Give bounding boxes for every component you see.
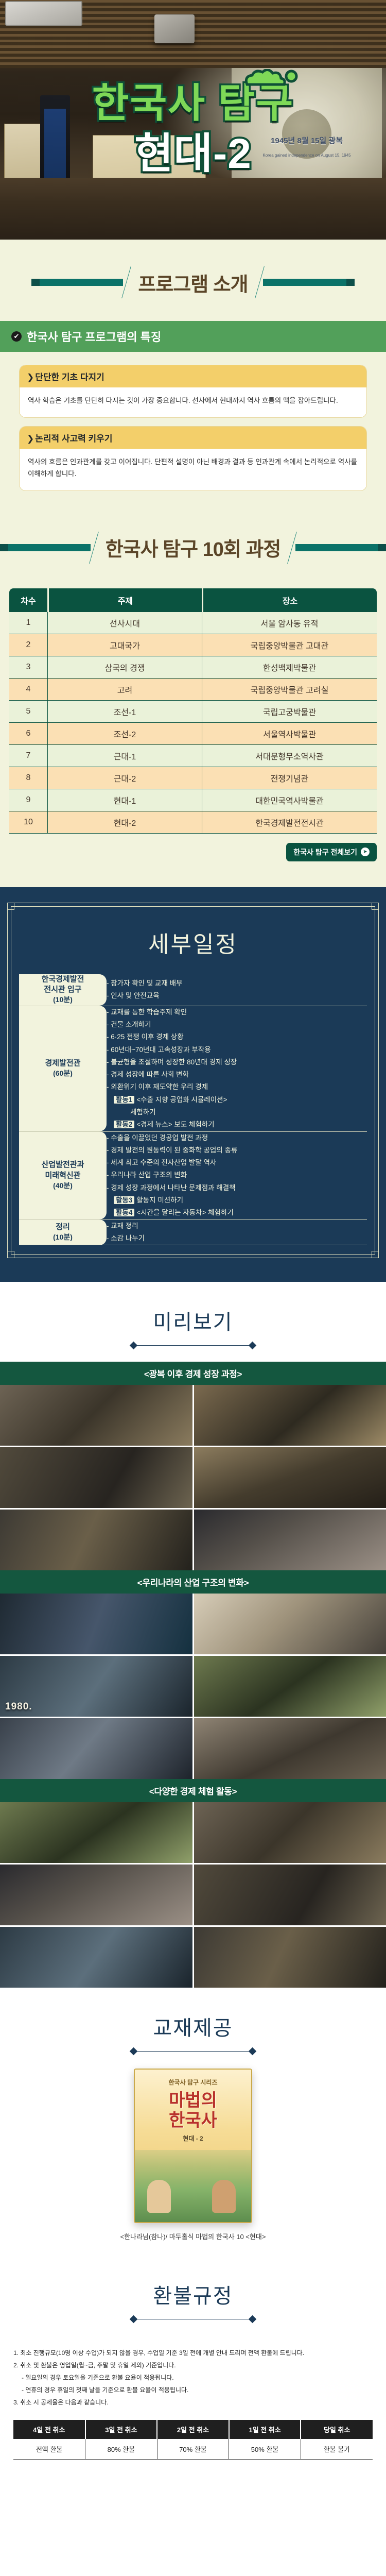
preview-photo (194, 1510, 386, 1570)
schedule-place: 정리(10분) (19, 1219, 107, 1245)
schedule-place: 경제발전관(60분) (19, 1006, 107, 1131)
curriculum-table-body: 1선사시대서울 암사동 유적2고대국가국립중앙박물관 고대관3삼국의 경쟁한성백… (9, 612, 377, 834)
session-cell: 4 (9, 679, 47, 701)
refund-column-header: 3일 전 취소 (85, 2420, 157, 2439)
topic-cell: 고대국가 (47, 634, 202, 656)
preview-photo (0, 1510, 192, 1570)
curriculum-title: 한국사 탐구 10회 과정 (97, 533, 289, 562)
schedule-row: 정리(10분)- 교재 정리- 소감 나누기 (19, 1219, 367, 1245)
table-header-row: 차수 주제 장소 (9, 588, 377, 612)
table-row: 1선사시대서울 암사동 유적 (9, 612, 377, 634)
diamond-divider (0, 2316, 386, 2322)
session-cell: 8 (9, 767, 47, 789)
divider-line (136, 1345, 250, 1346)
heading-rule-left (31, 279, 123, 286)
diamond-left-icon (130, 2047, 138, 2056)
preview-groups: <광복 이후 경제 성장 과정><우리나라의 산업 구조의 변화>1980.<다… (0, 1362, 386, 1988)
refund-header-row: 4일 전 취소3일 전 취소2일 전 취소1일 전 취소당일 취소 (13, 2420, 373, 2439)
place-cell: 한국경제발전전시관 (202, 811, 377, 834)
activity-label: <수출 지향 공업화 시뮬레이션> (136, 1096, 227, 1104)
place-cell: 서울 암사동 유적 (202, 612, 377, 634)
refund-policy-line: 2. 취소 및 환불은 영업일(월~금, 주말 및 휴일 제외) 기준입니다. (13, 2359, 373, 2371)
col-topic: 주제 (47, 588, 202, 612)
diamond-right-icon (249, 2047, 257, 2056)
preview-photo (0, 1927, 192, 1988)
refund-rate-table: 4일 전 취소3일 전 취소2일 전 취소1일 전 취소당일 취소 전액 환불8… (13, 2420, 373, 2460)
divider-line (136, 2051, 250, 2052)
view-all-button[interactable]: 한국사 탐구 전체보기 ➤ (286, 843, 377, 861)
schedule-row: 산업발전관과미래혁신관(40분)- 수출을 이끌었던 경공업 발전 과정- 경제… (19, 1131, 367, 1219)
cover-illustration (135, 2150, 251, 2222)
feature-card-header: ❯단단한 기초 다지기 (20, 365, 366, 387)
textbook-caption: <한나라님(참나)/ 마두홀식 마법의 한국사 10 <현대> (0, 2231, 386, 2241)
preview-photo (0, 1802, 192, 1863)
refund-policy-line: - 연휴의 경우 휴일의 첫째 날을 기준으로 환불 요율이 적용됩니다. (13, 2384, 373, 2396)
schedule-item: - 경제 성장 과정에서 나타난 문제점과 해결책 (107, 1182, 367, 1194)
feature-body: 역사 학습은 기초를 단단히 다지는 것이 가장 중요합니다. 선사에서 현대까… (20, 387, 366, 417)
diamond-divider (0, 1343, 386, 1348)
preview-photo (194, 1594, 386, 1654)
topic-cell: 고려 (47, 679, 202, 701)
schedule-items: - 참가자 확인 및 교재 배부- 인사 및 안전교육 (107, 974, 367, 1006)
hero-title-line1: 한국사 탐구 (0, 82, 386, 125)
diamond-right-icon (249, 1342, 257, 1350)
hero-title-line2: 현대-2 (0, 132, 386, 176)
preview-photo (194, 1802, 386, 1863)
place-cell: 대한민국역사박물관 (202, 789, 377, 811)
view-all-wrap: 한국사 탐구 전체보기 ➤ (0, 834, 386, 885)
hero-title-block: 한국사 탐구 현대-2 (0, 82, 386, 176)
preview-caption: <다양한 경제 체험 활동> (0, 1779, 386, 1802)
schedule-item: - 소감 나누기 (107, 1232, 367, 1245)
session-cell: 7 (9, 745, 47, 767)
refund-policy-line: 3. 취소 시 공제율은 다음과 같습니다. (13, 2396, 373, 2409)
refund-rate-cell: 80% 환불 (85, 2439, 157, 2460)
schedule-item: - 건물 소개하기 (107, 1019, 367, 1031)
schedule-duration: (60분) (53, 1069, 73, 1077)
preview-photo (0, 1865, 192, 1925)
intro-badge: ✔ 한국사 탐구 프로그램의 특징 (0, 321, 386, 352)
table-row: 8근대-2전쟁기념관 (9, 767, 377, 789)
schedule-item: - 외환위기 이후 재도약한 우리 경제 (107, 1081, 367, 1093)
heading-rule-right (263, 279, 355, 286)
table-row: 7근대-1서대문형무소역사관 (9, 745, 377, 767)
schedule-activity: 활동3활동지 미션하기 (107, 1194, 367, 1207)
preview-section: 미리보기 <광복 이후 경제 성장 과정><우리나라의 산업 구조의 변화>19… (0, 1282, 386, 1988)
preview-photo (194, 1656, 386, 1717)
schedule-items: - 교재를 통한 학습주제 확인- 건물 소개하기- 6·25 전쟁 이후 경제… (107, 1006, 367, 1131)
page-title: 프로그램 소개 (130, 268, 256, 297)
cover-title: 마법의한국사 (135, 2091, 251, 2131)
gallery-floor (0, 178, 386, 240)
diamond-left-icon (130, 1342, 138, 1350)
topic-cell: 현대-2 (47, 811, 202, 834)
feature-card: ❯단단한 기초 다지기 역사 학습은 기초를 단단히 다지는 것이 가장 중요합… (20, 365, 366, 417)
place-cell: 한성백제박물관 (202, 656, 377, 679)
preview-photo (194, 1927, 386, 1988)
program-landing-page: 1945년 8월 15일 광복 Korea gained independenc… (0, 0, 386, 2480)
table-row: 5조선-1국립고궁박물관 (9, 701, 377, 723)
schedule-row: 한국경제발전전시관 입구(10분)- 참가자 확인 및 교재 배부- 인사 및 … (19, 974, 367, 1006)
activity-label: 활동지 미션하기 (136, 1196, 183, 1204)
preview-photo: 1980. (0, 1656, 192, 1717)
schedule-activity: 활동4<시간을 달리는 자동차> 체험하기 (107, 1207, 367, 1219)
schedule-item: - 우리나라 산업 구조의 변화 (107, 1169, 367, 1181)
diamond-left-icon (130, 2315, 138, 2324)
feature-list: ❯단단한 기초 다지기 역사 학습은 기초를 단단히 다지는 것이 가장 중요합… (0, 352, 386, 505)
curriculum-table: 차수 주제 장소 1선사시대서울 암사동 유적2고대국가국립중앙박물관 고대관3… (9, 588, 377, 834)
place-cell: 국립중앙박물관 고대관 (202, 634, 377, 656)
refund-column-header: 1일 전 취소 (229, 2420, 301, 2439)
schedule-title: 세부일정 (13, 908, 373, 974)
col-place: 장소 (202, 588, 377, 612)
refund-section: 환불규정 1. 최소 진행규모(10명 이상 수업)가 되지 않을 경우, 수업… (0, 2259, 386, 2480)
table-row: 2고대국가국립중앙박물관 고대관 (9, 634, 377, 656)
schedule-item: - 불균형을 조절하며 성장한 80년대 경제 성장 (107, 1056, 367, 1069)
textbook-section: 교재제공 한국사 탐구 시리즈 마법의한국사 현대 - 2 <한나라님(참나)/… (0, 1988, 386, 2259)
section-heading-curriculum: 한국사 탐구 10회 과정 (0, 505, 386, 586)
photo-year-label: 1980. (5, 1701, 32, 1713)
check-icon: ✔ (11, 331, 22, 342)
schedule-items: - 교재 정리- 소감 나누기 (107, 1219, 367, 1245)
frame-corner-tr (372, 903, 379, 910)
activity-badge: 활동2 (114, 1121, 134, 1128)
schedule-item: - 세계 최고 수준의 전자산업 발달 역사 (107, 1157, 367, 1169)
place-cell: 국립중앙박물관 고려실 (202, 679, 377, 701)
activity-badge: 활동3 (114, 1196, 134, 1204)
textbook-title: 교재제공 (0, 2011, 386, 2041)
preview-photo (194, 1385, 386, 1446)
place-cell: 서울역사박물관 (202, 723, 377, 745)
refund-rate-cell: 환불 불가 (301, 2439, 373, 2460)
diamond-divider (0, 2048, 386, 2054)
preview-caption: <광복 이후 경제 성장 과정> (0, 1362, 386, 1385)
feature-title: 논리적 사고력 키우기 (35, 434, 112, 444)
schedule-item: - 경제 성장에 따른 사회 변화 (107, 1069, 367, 1081)
session-cell: 2 (9, 634, 47, 656)
schedule-activity: 활동2<경제 뉴스> 보도 체험하기 (107, 1118, 367, 1131)
schedule-item: - 수출을 이끌었던 경공업 발전 과정 (107, 1132, 367, 1144)
ceiling-projector (154, 14, 195, 43)
frame-corner-br (372, 1251, 379, 1258)
refund-column-header: 당일 취소 (301, 2420, 373, 2439)
activity-label: <경제 뉴스> 보도 체험하기 (136, 1121, 214, 1128)
schedule-frame: 세부일정 한국경제발전전시관 입구(10분)- 참가자 확인 및 교재 배부- … (7, 903, 379, 1258)
schedule-item: - 6·25 전쟁 이후 경제 상황 (107, 1031, 367, 1043)
schedule-item: - 교재 정리 (107, 1220, 367, 1232)
schedule-items: - 수출을 이끌었던 경공업 발전 과정- 경제 발전의 원동력이 된 중화학 … (107, 1131, 367, 1219)
refund-rate-cell: 70% 환불 (157, 2439, 229, 2460)
topic-cell: 선사시대 (47, 612, 202, 634)
preview-photo (194, 1447, 386, 1508)
schedule-item: - 인사 및 안전교육 (107, 990, 367, 1002)
hero-banner: 1945년 8월 15일 광복 Korea gained independenc… (0, 0, 386, 240)
schedule-section: 세부일정 한국경제발전전시관 입구(10분)- 참가자 확인 및 교재 배부- … (0, 887, 386, 1282)
schedule-duration: (40분) (53, 1181, 73, 1190)
feature-title: 단단한 기초 다지기 (35, 372, 104, 382)
intro-badge-label: 한국사 탐구 프로그램의 특징 (27, 328, 161, 345)
feature-card: ❯논리적 사고력 키우기 역사의 흐름은 인과관계를 갖고 이어집니다. 단편적… (20, 427, 366, 490)
textbook-cover-image: 한국사 탐구 시리즈 마법의한국사 현대 - 2 (134, 2069, 252, 2223)
topic-cell: 삼국의 경쟁 (47, 656, 202, 679)
preview-photo (0, 1385, 192, 1446)
topic-cell: 근대-1 (47, 745, 202, 767)
activity-badge: 활동1 (114, 1096, 134, 1104)
col-session: 차수 (9, 588, 47, 612)
activity-label: <시간을 달리는 자동차> 체험하기 (136, 1209, 233, 1216)
preview-photo (194, 1718, 386, 1779)
session-cell: 1 (9, 612, 47, 634)
cover-subtitle: 현대 - 2 (135, 2134, 251, 2143)
topic-cell: 조선-2 (47, 723, 202, 745)
activity-sublabel: 체험하기 (107, 1106, 367, 1118)
schedule-table-body: 한국경제발전전시관 입구(10분)- 참가자 확인 및 교재 배부- 인사 및 … (19, 974, 367, 1245)
schedule-place: 한국경제발전전시관 입구(10분) (19, 974, 107, 1006)
topic-cell: 조선-1 (47, 701, 202, 723)
cloud-ornament-icon (242, 69, 304, 92)
schedule-item: - 참가자 확인 및 교재 배부 (107, 977, 367, 990)
divider-line (136, 2319, 250, 2319)
preview-title: 미리보기 (0, 1306, 386, 1335)
chevron-right-icon: ❯ (27, 372, 34, 382)
preview-photo (0, 1718, 192, 1779)
preview-photo (194, 1865, 386, 1925)
feature-card-header: ❯논리적 사고력 키우기 (20, 427, 366, 449)
preview-caption: <우리나라의 산업 구조의 변화> (0, 1570, 386, 1594)
diamond-right-icon (249, 2315, 257, 2324)
section-heading-intro: 프로그램 소개 (0, 240, 386, 321)
schedule-item: - 경제 발전의 원동력이 된 중화학 공업의 종류 (107, 1144, 367, 1157)
table-row: 4고려국립중앙박물관 고려실 (9, 679, 377, 701)
refund-value-row: 전액 환불80% 환불70% 환불50% 환불환불 불가 (13, 2439, 373, 2460)
view-all-label: 한국사 탐구 전체보기 (293, 847, 357, 857)
preview-image-grid: 1980. (0, 1594, 386, 1779)
session-cell: 10 (9, 811, 47, 834)
topic-cell: 근대-2 (47, 767, 202, 789)
ceiling-ac-unit (5, 1, 82, 26)
cover-series-label: 한국사 탐구 시리즈 (135, 2070, 251, 2087)
feature-body: 역사의 흐름은 인과관계를 갖고 이어집니다. 단편적 설명이 아닌 배경과 결… (20, 449, 366, 490)
place-cell: 국립고궁박물관 (202, 701, 377, 723)
refund-policy-line: - 일요일의 경우 토요일을 기준으로 환불 요율이 적용됩니다. (13, 2371, 373, 2384)
preview-photo (0, 1594, 192, 1654)
frame-corner-tl (7, 903, 14, 910)
topic-cell: 현대-1 (47, 789, 202, 811)
session-cell: 9 (9, 789, 47, 811)
preview-image-grid (0, 1385, 386, 1570)
program-intro-section: 프로그램 소개 ✔ 한국사 탐구 프로그램의 특징 ❯단단한 기초 다지기 역사… (0, 240, 386, 887)
schedule-table: 한국경제발전전시관 입구(10분)- 참가자 확인 및 교재 배부- 인사 및 … (19, 974, 367, 1245)
refund-column-header: 2일 전 취소 (157, 2420, 229, 2439)
place-cell: 전쟁기념관 (202, 767, 377, 789)
session-cell: 3 (9, 656, 47, 679)
heading-rule-right (295, 544, 386, 551)
place-cell: 서대문형무소역사관 (202, 745, 377, 767)
refund-rate-cell: 전액 환불 (13, 2439, 85, 2460)
schedule-item: - 60년대~70년대 고속성장과 부작용 (107, 1044, 367, 1056)
curriculum-table-wrap: 차수 주제 장소 1선사시대서울 암사동 유적2고대국가국립중앙박물관 고대관3… (0, 586, 386, 834)
schedule-duration: (10분) (53, 995, 73, 1004)
table-row: 9현대-1대한민국역사박물관 (9, 789, 377, 811)
refund-rate-cell: 50% 환불 (229, 2439, 301, 2460)
frame-corner-bl (7, 1251, 14, 1258)
chevron-right-icon: ❯ (27, 434, 34, 444)
preview-image-grid (0, 1802, 386, 1988)
table-row: 6조선-2서울역사박물관 (9, 723, 377, 745)
schedule-duration: (10분) (53, 1233, 73, 1241)
session-cell: 6 (9, 723, 47, 745)
refund-policy-line: 1. 최소 진행규모(10명 이상 수업)가 되지 않을 경우, 수업일 기준 … (13, 2347, 373, 2359)
table-row: 3삼국의 경쟁한성백제박물관 (9, 656, 377, 679)
chevron-right-circle-icon: ➤ (361, 848, 370, 856)
activity-badge: 활동4 (114, 1209, 134, 1216)
session-cell: 5 (9, 701, 47, 723)
schedule-row: 경제발전관(60분)- 교재를 통한 학습주제 확인- 건물 소개하기- 6·2… (19, 1006, 367, 1131)
schedule-place: 산업발전관과미래혁신관(40분) (19, 1131, 107, 1219)
preview-photo (0, 1447, 192, 1508)
heading-rule-left (0, 544, 91, 551)
schedule-activity: 활동1<수출 지향 공업화 시뮬레이션> (107, 1094, 367, 1106)
refund-column-header: 4일 전 취소 (13, 2420, 85, 2439)
table-row: 10현대-2한국경제발전전시관 (9, 811, 377, 834)
refund-title: 환불규정 (0, 2279, 386, 2309)
schedule-item: - 교재를 통한 학습주제 확인 (107, 1006, 367, 1019)
refund-policy-text: 1. 최소 진행규모(10명 이상 수업)가 되지 않을 경우, 수업일 기준 … (0, 2335, 386, 2409)
